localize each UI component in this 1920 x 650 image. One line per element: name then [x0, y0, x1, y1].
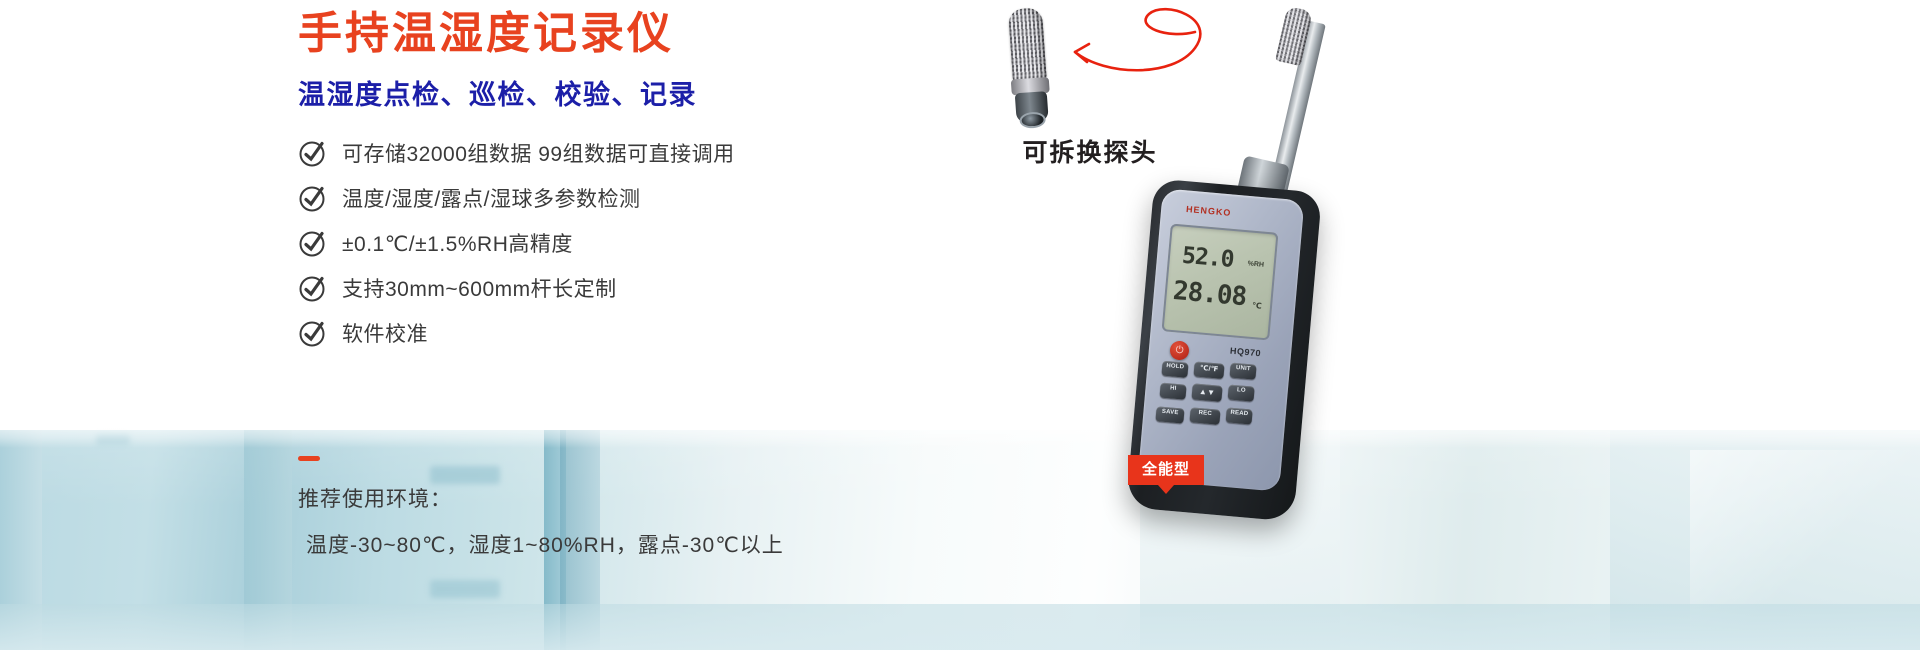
key-rec[interactable]: REC: [1189, 407, 1220, 425]
photo-floor: [0, 604, 1920, 650]
lcd-humidity-unit: %RH: [1247, 260, 1264, 268]
list-item: 支持30mm~600mm杆长定制: [298, 265, 998, 310]
probe-connector: [1019, 111, 1046, 129]
key-unit[interactable]: UNIT: [1229, 363, 1256, 380]
key-arrows[interactable]: ▲▼: [1191, 383, 1222, 402]
feature-text: 温度/湿度/露点/湿球多参数检测: [342, 183, 641, 213]
key-save[interactable]: SAVE: [1155, 406, 1184, 423]
probe-mesh-filter: [1008, 7, 1047, 83]
lcd-humidity-value: 52.0: [1181, 243, 1234, 273]
background-fade: [0, 414, 1920, 448]
feature-text: 可存储32000组数据 99组数据可直接调用: [342, 138, 735, 168]
feature-list: 可存储32000组数据 99组数据可直接调用 温度/湿度/露点/湿球多参数检测: [298, 130, 998, 355]
check-circle-icon: [298, 138, 328, 168]
key-read[interactable]: READ: [1226, 407, 1253, 424]
list-item: 软件校准: [298, 310, 998, 355]
feature-text: ±0.1℃/±1.5%RH高精度: [342, 228, 573, 258]
banner-stage: 手持温湿度记录仪 温湿度点检、巡检、校验、记录 可存储32000组数据 99组数…: [0, 0, 1920, 650]
environment-note-value: 温度-30~80℃，湿度1~80%RH，露点-30℃以上: [298, 529, 1058, 559]
list-item: 可存储32000组数据 99组数据可直接调用: [298, 130, 998, 175]
feature-text: 软件校准: [342, 318, 428, 348]
meter-lcd-screen: 52.0 %RH 28.08 ℃: [1161, 223, 1278, 340]
check-circle-icon: [298, 183, 328, 213]
key-unit-c-f[interactable]: ℃/℉: [1193, 361, 1224, 379]
accent-dash: [298, 456, 320, 461]
check-circle-icon: [298, 228, 328, 258]
page-title: 手持温湿度记录仪: [298, 10, 998, 58]
check-circle-icon: [298, 273, 328, 303]
key-lo[interactable]: LO: [1228, 384, 1255, 401]
lcd-temperature-unit: ℃: [1252, 301, 1262, 311]
page-subtitle: 温湿度点检、巡检、校验、记录: [298, 73, 998, 112]
check-circle-icon: [298, 318, 328, 348]
environment-note-label: 推荐使用环境：: [298, 483, 1058, 513]
list-item: ±0.1℃/±1.5%RH高精度: [298, 220, 998, 265]
feature-text: 支持30mm~600mm杆长定制: [342, 273, 617, 303]
banner-copy: 手持温湿度记录仪 温湿度点检、巡检、校验、记录 可存储32000组数据 99组数…: [298, 0, 998, 355]
list-item: 温度/湿度/露点/湿球多参数检测: [298, 175, 998, 220]
product-meter-image: HENGKO 52.0 %RH 28.08 ℃ ⏻ HQ970 HOLD ℃/℉…: [1090, 10, 1390, 530]
photo-blur-detail-2: [430, 580, 500, 598]
key-hi[interactable]: HI: [1159, 383, 1186, 400]
environment-note: 推荐使用环境： 温度-30~80℃，湿度1~80%RH，露点-30℃以上: [298, 456, 1058, 559]
status-badge: 全能型: [1128, 455, 1204, 485]
lcd-temperature-value: 28.08: [1172, 276, 1248, 312]
key-hold[interactable]: HOLD: [1161, 361, 1188, 378]
photo-glass-highlight: [1690, 450, 1920, 630]
